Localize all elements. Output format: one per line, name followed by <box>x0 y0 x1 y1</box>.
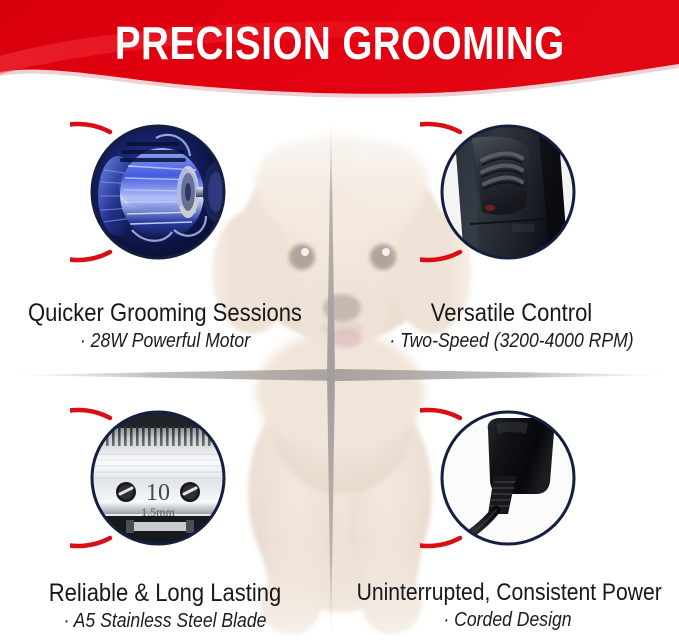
vertical-divider <box>324 108 338 641</box>
power-cord-photo <box>420 398 580 558</box>
motor-rotor-photo <box>70 112 230 272</box>
feature-title: Versatile Control <box>364 300 659 326</box>
feature-subtitle: · Corded Design <box>357 610 659 631</box>
infographic-page: 10 1.5mm <box>0 0 679 641</box>
horizontal-divider <box>0 366 679 384</box>
feature-title: Quicker Grooming Sessions <box>20 300 310 326</box>
speed-switch-photo <box>420 112 580 272</box>
blade-size-engraving: 10 <box>146 480 170 506</box>
feature-subtitle: · Two-Speed (3200-4000 RPM) <box>364 331 659 352</box>
feature-title: Uninterrupted, Consistent Power <box>357 580 659 605</box>
clipper-blade-photo: 10 1.5mm <box>70 398 230 558</box>
feature-text-versatile-control: Versatile Control · Two-Speed (3200-4000… <box>344 300 679 352</box>
feature-subtitle: · 28W Powerful Motor <box>20 331 310 352</box>
feature-subtitle: · A5 Stainless Steel Blade <box>20 611 310 632</box>
feature-text-uninterrupted-power: Uninterrupted, Consistent Power · Corded… <box>336 580 679 631</box>
feature-text-quicker-grooming: Quicker Grooming Sessions · 28W Powerful… <box>0 300 330 352</box>
feature-title: Reliable & Long Lasting <box>20 580 310 606</box>
header-banner: PRECISION GROOMING <box>0 0 679 100</box>
feature-text-reliable-long-lasting: Reliable & Long Lasting · A5 Stainless S… <box>0 580 330 632</box>
